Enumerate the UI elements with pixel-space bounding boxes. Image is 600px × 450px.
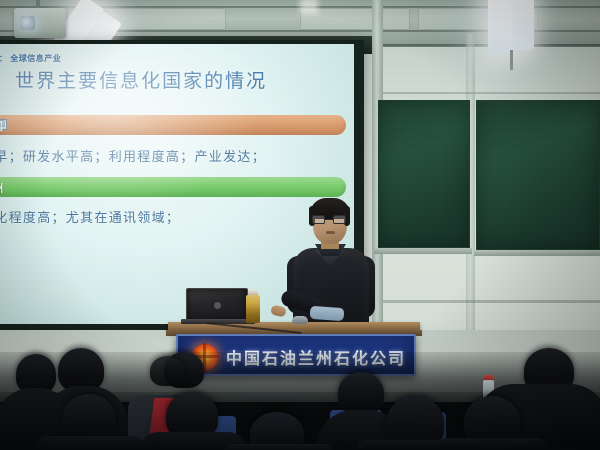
glasses-icon xyxy=(312,215,348,224)
wall-seam xyxy=(383,300,600,303)
audience-shoulders xyxy=(436,438,548,450)
audience-shoulders xyxy=(34,436,146,450)
slide-section-label-1: 国 xyxy=(0,118,3,134)
chalk-tray xyxy=(474,250,600,256)
chalk-tray xyxy=(374,248,472,254)
ceiling-light-right xyxy=(488,0,512,54)
computer-mouse xyxy=(292,316,308,324)
wall-seam xyxy=(383,92,600,94)
audience-foreground xyxy=(0,352,600,450)
glasses-bridge xyxy=(325,219,333,220)
glasses-lens xyxy=(312,215,325,224)
audience-head xyxy=(150,356,184,386)
slide-section-bar-orange xyxy=(0,115,346,135)
light-tube xyxy=(488,0,512,54)
rolled-sleeve xyxy=(310,306,345,321)
slide-kicker: 部分： 全球信息产业 xyxy=(0,53,61,64)
ceiling-projector xyxy=(14,8,66,38)
projector-lens-icon xyxy=(20,16,35,30)
light-stem xyxy=(510,50,513,70)
chalkboard-left xyxy=(378,100,470,248)
audience-head xyxy=(338,372,384,414)
slide-title: 2）世界主要信息化国家的情况 xyxy=(0,66,267,93)
mouth xyxy=(326,231,335,234)
slide-body-line-2: 息化程度高；尤其在通讯领域； xyxy=(0,207,180,226)
slide-section-bar-green xyxy=(0,177,346,197)
slide-section-label-2: 洲 xyxy=(0,180,3,196)
light-tube xyxy=(512,0,534,50)
laptop xyxy=(186,288,248,322)
slide-body-line-1: 步早；研发水平高；利用程度高；产业发达； xyxy=(0,146,266,165)
tea-bottle xyxy=(246,295,260,323)
glasses-lens xyxy=(333,215,346,224)
chalkboard-right xyxy=(476,100,600,250)
ceiling-light-distant xyxy=(300,0,318,14)
audience-shoulders xyxy=(224,444,332,450)
laptop-logo-icon xyxy=(214,302,221,309)
lecture-hall-photo: 部分： 全球信息产业 2）世界主要信息化国家的情况 国 国 步早；研发水平高；利… xyxy=(0,0,600,450)
